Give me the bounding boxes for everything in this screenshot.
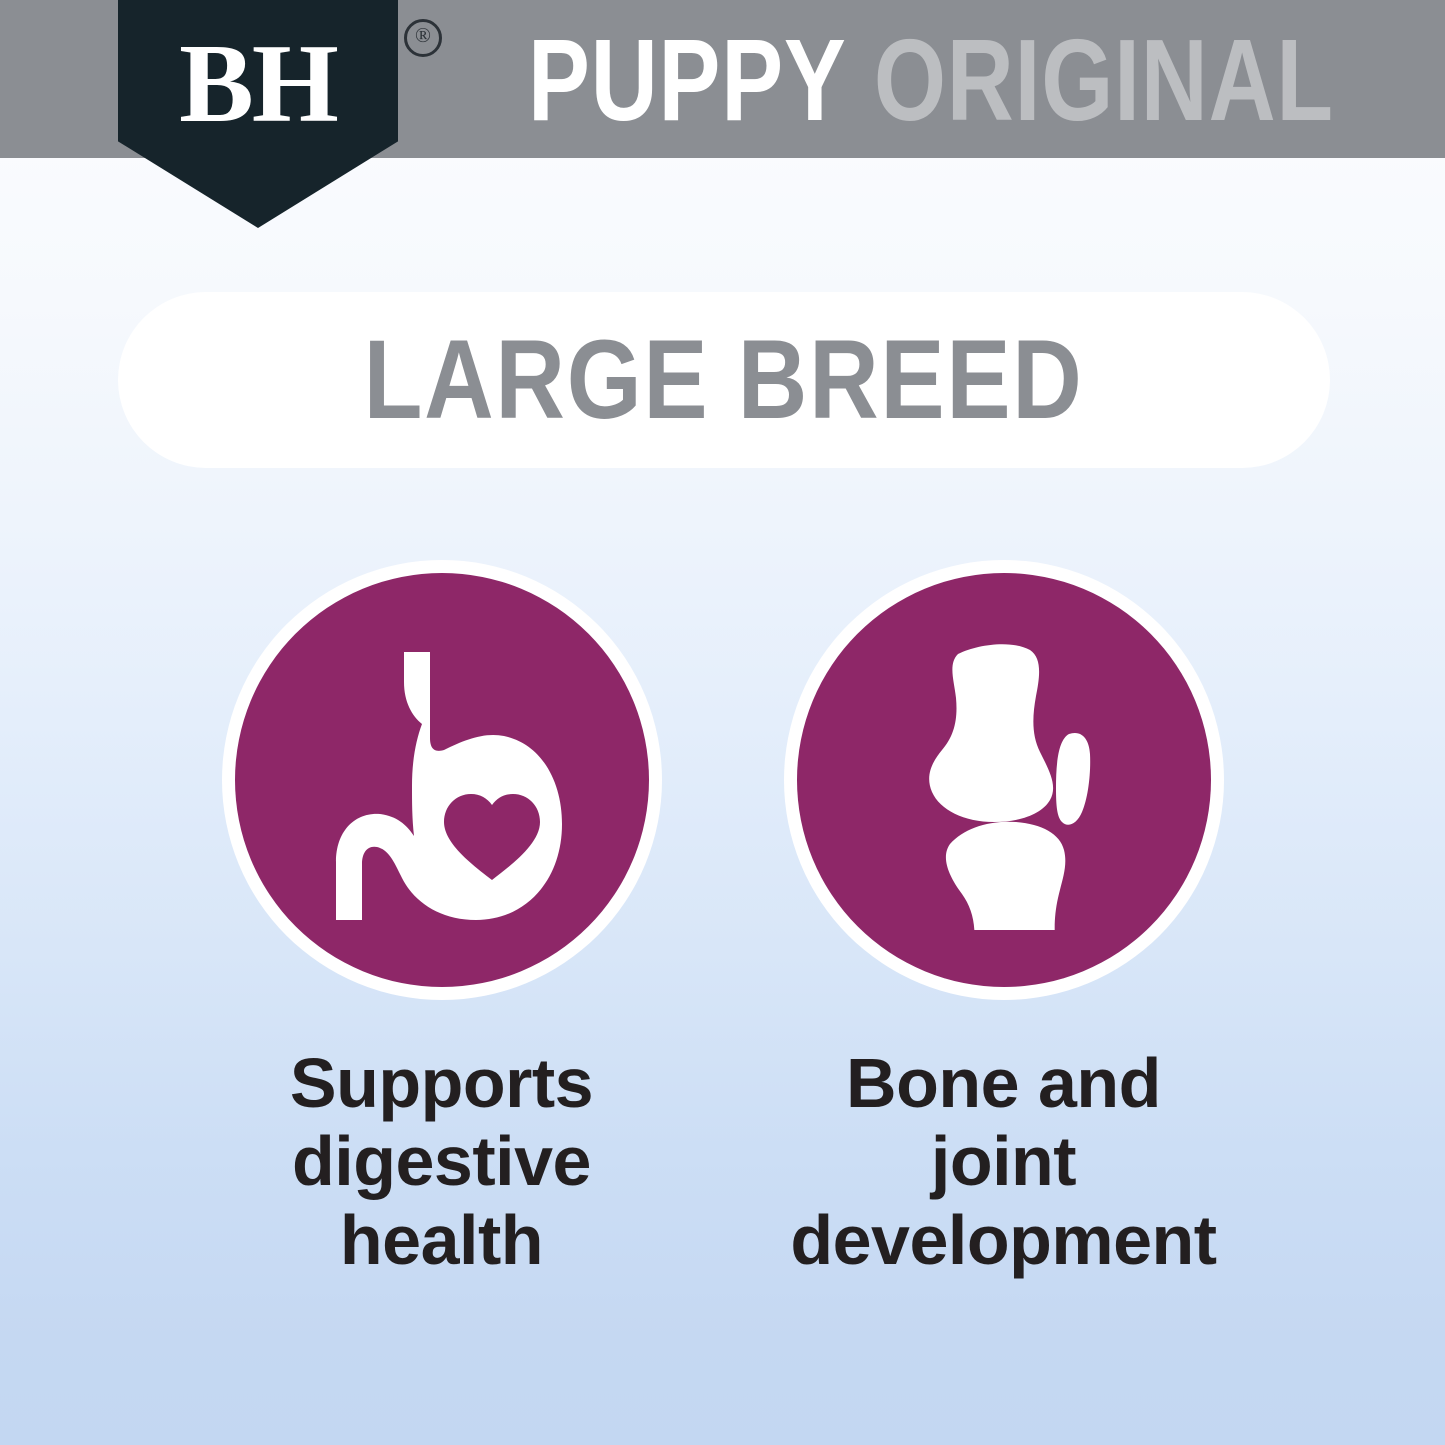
product-title-secondary: ORIGINAL	[874, 22, 1334, 138]
stomach-heart-icon	[292, 630, 592, 930]
brand-shield-logo: BH	[118, 0, 398, 228]
breed-size-banner: LARGE BREED	[118, 292, 1330, 468]
benefit-badge-bone-joint	[784, 560, 1224, 1000]
product-title: PUPPY ORIGINAL	[528, 20, 1334, 140]
breed-size-label: LARGE BREED	[364, 324, 1084, 436]
benefits-row: Supports digestive health Bone and joint…	[0, 560, 1445, 1279]
knee-joint-bone-icon	[854, 630, 1154, 930]
benefit-badge-digestive	[222, 560, 662, 1000]
benefit-caption-bone-joint: Bone and joint development	[790, 1044, 1216, 1279]
product-feature-poster: PUPPY ORIGINAL BH ® LARGE BREED Supports…	[0, 0, 1445, 1445]
benefit-caption-digestive: Supports digestive health	[290, 1044, 593, 1279]
product-title-primary: PUPPY	[528, 22, 847, 138]
benefit-item-bone-joint: Bone and joint development	[784, 560, 1224, 1279]
benefit-item-digestive: Supports digestive health	[222, 560, 662, 1279]
brand-logo-text: BH	[179, 28, 337, 140]
benefit-badge-circle	[797, 573, 1211, 987]
benefit-badge-circle	[235, 573, 649, 987]
registered-trademark-icon: ®	[404, 19, 442, 57]
